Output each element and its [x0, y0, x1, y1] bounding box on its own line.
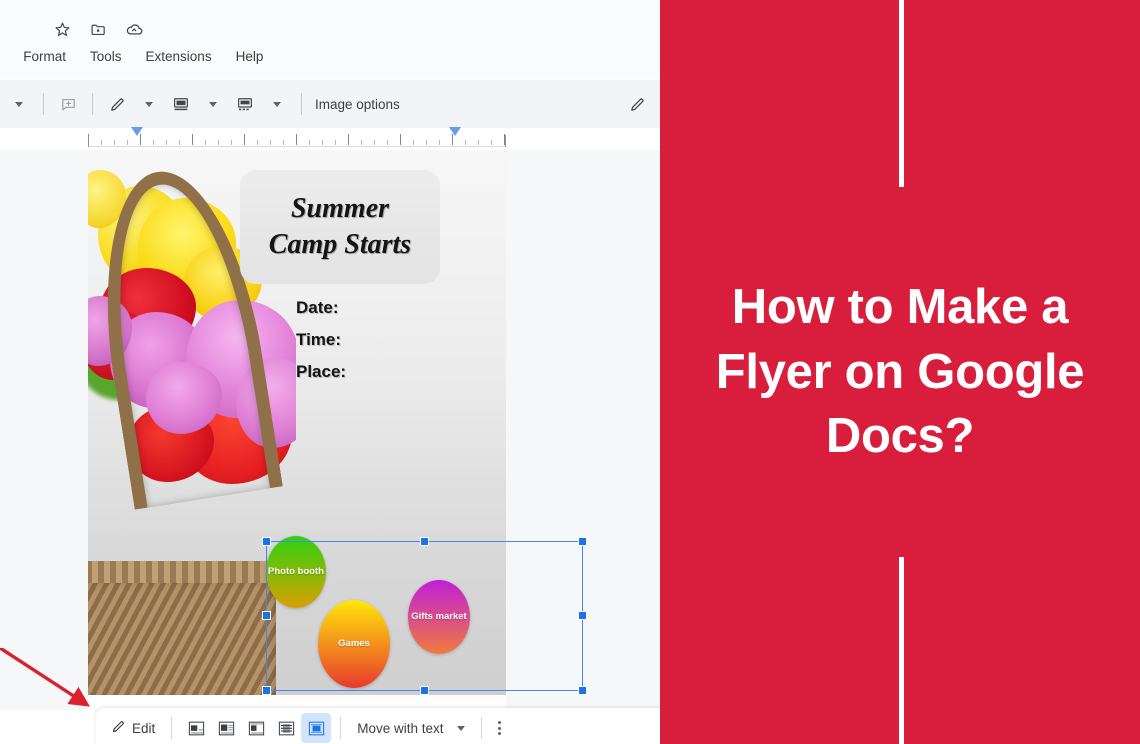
ruler-tick [257, 140, 258, 145]
menu-item-help[interactable]: Help [231, 47, 269, 66]
image-position-dropdown[interactable]: Move with text [350, 713, 471, 743]
image-format-toolbar: % [0, 80, 660, 128]
menu-bar: rt Format Tools Extensions Help [0, 47, 268, 66]
screenshot-root: er [0, 0, 1140, 744]
menu-item-insert[interactable]: rt [0, 47, 4, 66]
ruler-tick [153, 140, 154, 145]
menu-item-format[interactable]: Format [18, 47, 71, 66]
border-dash-dropdown[interactable] [262, 89, 292, 119]
horizontal-ruler[interactable] [88, 131, 506, 147]
wrap-in-front-of-text-icon[interactable] [301, 713, 331, 743]
flyer-heading-card: Summer Camp Starts [240, 170, 440, 284]
ruler-tick [374, 140, 375, 145]
basket-rim [88, 561, 276, 583]
border-color-dropdown[interactable] [134, 89, 164, 119]
toolbar-divider-6 [481, 717, 482, 739]
resize-handle-bottom-center[interactable] [420, 686, 429, 695]
document-canvas: Summer Camp Starts Date: Time: Place: Ph… [0, 150, 660, 710]
ruler-tick [283, 140, 284, 145]
more-image-options-button[interactable] [491, 713, 508, 743]
google-docs-window: er [0, 0, 660, 744]
toolbar-divider-4 [171, 717, 172, 739]
wicker-basket [88, 575, 276, 695]
ruler-tick [296, 134, 297, 145]
border-color-icon[interactable] [102, 89, 132, 119]
resize-handle-top-left[interactable] [262, 537, 271, 546]
ruler-tick [426, 140, 427, 145]
border-weight-dropdown[interactable] [198, 89, 228, 119]
toolbar-divider-3 [301, 93, 302, 115]
kebab-menu-icon [498, 721, 501, 735]
ruler-tick [478, 140, 479, 145]
ruler-tick [465, 140, 466, 145]
ruler-tick [192, 134, 193, 145]
ruler-tick [335, 140, 336, 145]
flyer-detail-date: Date: [296, 298, 346, 318]
ruler-tick [114, 140, 115, 145]
ruler-tick [101, 140, 102, 145]
image-context-toolbar: Edit [96, 708, 660, 744]
toolbar-divider-2 [92, 93, 93, 115]
ruler-tick [413, 140, 414, 145]
resize-handle-top-right[interactable] [578, 537, 587, 546]
editing-mode-pencil-icon[interactable] [622, 89, 652, 119]
left-indent-marker[interactable] [131, 127, 143, 136]
image-selection-box[interactable] [266, 541, 583, 691]
zoom-dropdown-button[interactable] [4, 89, 34, 119]
ruler-tick [205, 140, 206, 145]
flyer-details: Date: Time: Place: [296, 298, 346, 382]
title-bar: er [0, 0, 660, 78]
red-pointer-arrow [0, 648, 110, 718]
resize-handle-middle-right[interactable] [578, 611, 587, 620]
ruler-tick [322, 140, 323, 145]
flyer-detail-place: Place: [296, 362, 346, 382]
zoom-level-value[interactable]: % [0, 89, 2, 119]
ruler-tick [270, 140, 271, 145]
title-bar-icons [52, 19, 144, 39]
menu-item-extensions[interactable]: Extensions [141, 47, 217, 66]
resize-handle-bottom-right[interactable] [578, 686, 587, 695]
cloud-saved-icon[interactable] [124, 19, 144, 39]
flyer-detail-time: Time: [296, 330, 346, 350]
image-options-button[interactable]: Image options [311, 97, 400, 112]
ruler-tick [439, 140, 440, 145]
edit-label: Edit [132, 721, 155, 736]
resize-handle-top-center[interactable] [420, 537, 429, 546]
wrap-break-text-icon[interactable] [241, 713, 271, 743]
ruler-tick [244, 134, 245, 145]
ruler-tick [348, 134, 349, 145]
ruler-tick [387, 140, 388, 145]
promo-panel: How to Make a Flyer on Google Docs? [660, 0, 1140, 744]
ruler-tick [400, 134, 401, 145]
image-position-label: Move with text [357, 721, 443, 736]
add-comment-icon[interactable] [53, 89, 83, 119]
ruler-area [0, 128, 660, 150]
wrap-inline-icon[interactable] [181, 713, 211, 743]
star-icon[interactable] [52, 19, 72, 39]
pencil-icon [111, 719, 126, 737]
border-weight-icon[interactable] [166, 89, 196, 119]
flyer-heading-line-2: Camp Starts [269, 229, 411, 261]
border-dash-icon[interactable] [230, 89, 260, 119]
toolbar-divider [43, 93, 44, 115]
flyer-heading-line-1: Summer [291, 193, 389, 225]
ruler-tick [166, 140, 167, 145]
promo-title: How to Make a Flyer on Google Docs? [660, 0, 1140, 744]
edit-image-button[interactable]: Edit [104, 713, 162, 743]
wrap-text-icon[interactable] [211, 713, 241, 743]
resize-handle-middle-left[interactable] [262, 611, 271, 620]
ruler-tick [179, 140, 180, 145]
menu-item-tools[interactable]: Tools [85, 47, 127, 66]
wrap-behind-text-icon[interactable] [271, 713, 301, 743]
ruler-tick [231, 140, 232, 145]
ruler-tick [491, 140, 492, 145]
ruler-tick [309, 140, 310, 145]
chevron-down-icon [457, 726, 465, 731]
toolbar-divider-5 [340, 717, 341, 739]
move-to-folder-icon[interactable] [88, 19, 108, 39]
ruler-tick [361, 140, 362, 145]
right-indent-marker[interactable] [449, 127, 461, 136]
ruler-tick [127, 140, 128, 145]
resize-handle-bottom-left[interactable] [262, 686, 271, 695]
ruler-tick [218, 140, 219, 145]
